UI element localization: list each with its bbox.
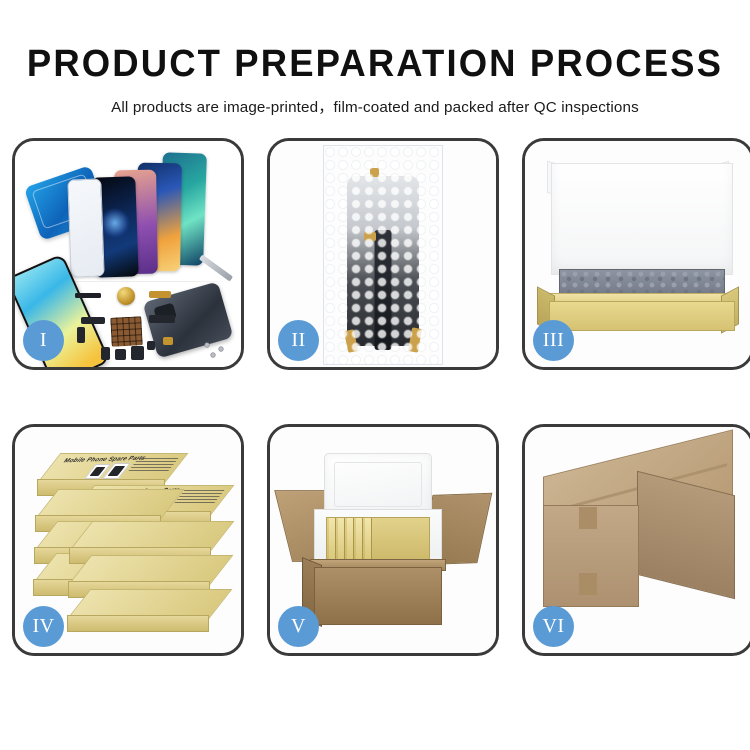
bubble-wrap-bag [323, 145, 443, 365]
screw-icon [205, 343, 209, 347]
earpiece-mesh-icon [75, 293, 101, 298]
sim-tray-icon [147, 341, 155, 350]
foam-cooler-lid [324, 453, 432, 517]
connector-icon [163, 337, 173, 345]
carton-tape-icon [579, 507, 597, 529]
step-badge-4: IV [23, 606, 64, 647]
packed-yellow-boxes [326, 517, 430, 561]
flex-strip [375, 230, 392, 350]
phone-screen-fan [99, 157, 241, 277]
flex-cable-icon [149, 315, 175, 323]
step-badge-5: V [278, 606, 319, 647]
screw-mat-icon [110, 316, 142, 347]
step-badge-6: VI [533, 606, 574, 647]
page-subtitle: All products are image-printed，film-coat… [0, 100, 750, 115]
box-tray-front [549, 301, 735, 331]
carton-tape-icon [579, 573, 597, 595]
connector-icon [364, 232, 376, 241]
step-badge-3: III [533, 320, 574, 361]
step-badge-2: II [278, 320, 319, 361]
step-panel-1: I [12, 138, 244, 370]
speaker-icon [131, 346, 144, 360]
retail-box-side [67, 615, 209, 632]
vibration-motor-icon [117, 287, 135, 305]
retail-box-label: Mobile Phone Spare Parts [37, 453, 188, 483]
step-panel-5: V [267, 424, 499, 656]
tempered-glass-icon [67, 178, 104, 277]
screw-icon [219, 347, 223, 351]
speaker-icon [115, 349, 126, 360]
step-panel-2: II [267, 138, 499, 370]
camera-module-icon [101, 347, 110, 360]
flex-cable-icon [81, 317, 105, 324]
step-panel-3: III [522, 138, 750, 370]
step-panel-4: Mobile Phone Spare Parts [12, 424, 244, 656]
process-step-grid: I II [12, 138, 738, 678]
flex-cable-icon [77, 327, 85, 343]
screw-icon [211, 353, 215, 357]
step-panel-6: VI [522, 424, 750, 656]
flex-cable-icon [149, 291, 171, 298]
connector-icon [370, 168, 379, 177]
page-title: PRODUCT PREPARATION PROCESS [15, 45, 735, 83]
step-badge-1: I [23, 320, 64, 361]
product-preparation-infographic: PRODUCT PREPARATION PROCESS All products… [0, 0, 750, 750]
carton-front-panel [314, 567, 442, 625]
header: PRODUCT PREPARATION PROCESS All products… [0, 0, 750, 115]
white-box-lid [551, 163, 733, 275]
